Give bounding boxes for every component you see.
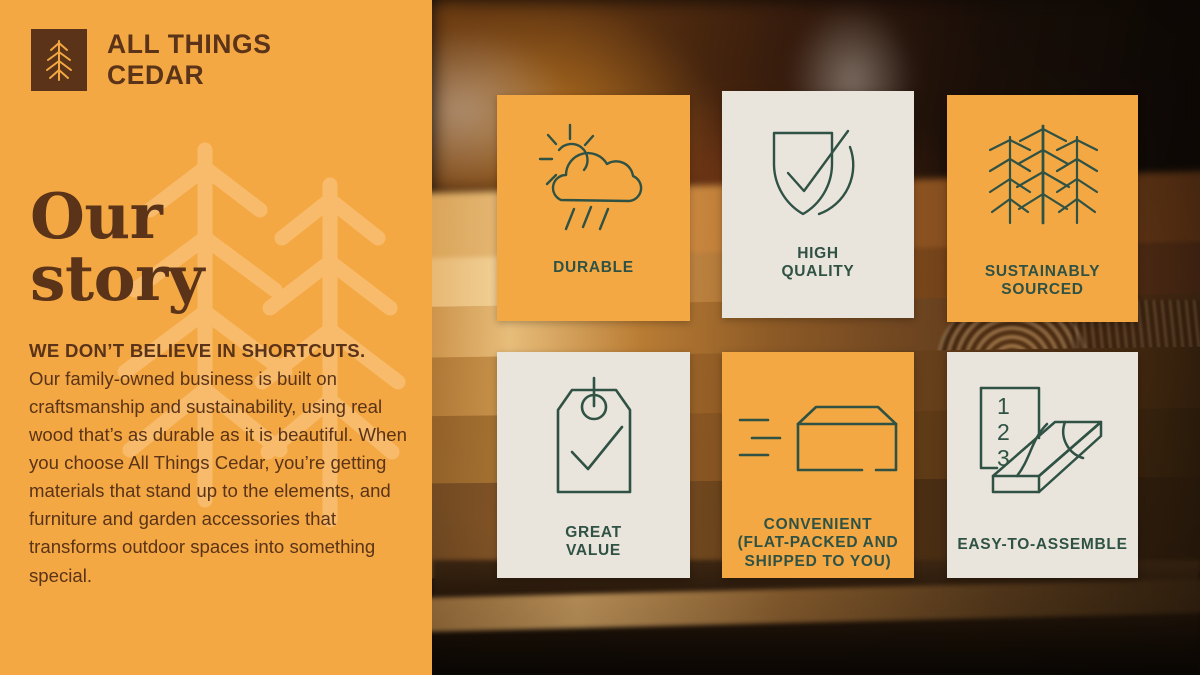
assembly-plank-icon: 1 2 3 — [973, 380, 1113, 500]
feature-card-durable[interactable]: DURABLE — [497, 95, 690, 321]
story-lead-line: WE DON’T BELIEVE IN SHORTCUTS. — [29, 337, 415, 365]
shield-check-icon — [762, 121, 874, 221]
feature-label: DURABLE — [553, 259, 634, 277]
sun-cloud-rain-icon — [535, 117, 653, 235]
assembly-step-1: 1 — [997, 393, 1010, 419]
brand-name: ALL THINGS CEDAR — [107, 29, 272, 90]
cedar-tree-icon — [31, 29, 87, 91]
feature-label: CONVENIENT (FLAT-PACKED AND SHIPPED TO Y… — [738, 516, 899, 571]
brand-logo[interactable]: ALL THINGS CEDAR — [31, 29, 272, 91]
feature-label: GREAT VALUE — [565, 524, 622, 561]
slide-canvas: ALL THINGS CEDAR Our story WE DON’T BELI… — [0, 0, 1200, 675]
feature-card-high-quality[interactable]: HIGH QUALITY — [722, 91, 914, 318]
story-body-text: Our family-owned business is built on cr… — [29, 365, 415, 590]
assembly-step-2: 2 — [997, 419, 1010, 445]
feature-label: HIGH QUALITY — [782, 245, 855, 282]
feature-card-great-value[interactable]: GREAT VALUE — [497, 352, 690, 578]
feature-label: EASY-TO-ASSEMBLE — [957, 536, 1127, 554]
feature-card-easy-to-assemble[interactable]: 1 2 3 EASY-TO-ASSEMBLE — [947, 352, 1138, 578]
three-trees-icon — [984, 123, 1102, 241]
left-info-panel: ALL THINGS CEDAR Our story WE DON’T BELI… — [0, 0, 432, 675]
feature-card-convenient[interactable]: CONVENIENT (FLAT-PACKED AND SHIPPED TO Y… — [722, 352, 914, 578]
feature-card-sustainably-sourced[interactable]: SUSTAINABLY SOURCED — [947, 95, 1138, 322]
feature-label: SUSTAINABLY SOURCED — [985, 263, 1100, 300]
story-paragraph: WE DON’T BELIEVE IN SHORTCUTS. Our famil… — [29, 337, 415, 590]
shipping-box-icon — [738, 402, 898, 476]
page-title: Our story — [30, 186, 410, 309]
price-tag-check-icon — [544, 376, 644, 496]
